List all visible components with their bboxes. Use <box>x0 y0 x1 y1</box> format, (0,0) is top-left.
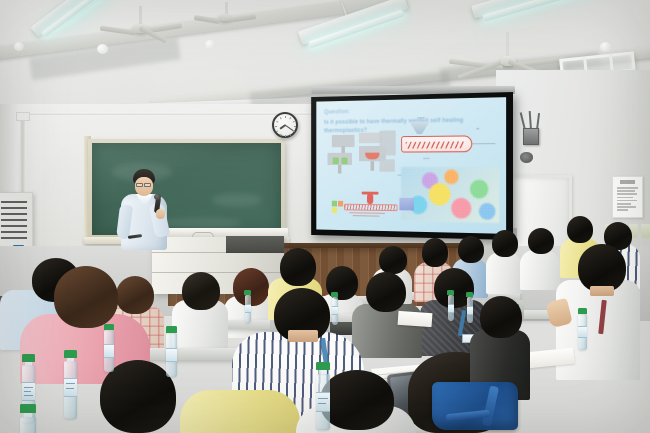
presenter <box>112 169 174 269</box>
wall-clock <box>272 112 298 138</box>
attendee-head <box>280 248 316 286</box>
ac-pipe-bracket <box>16 112 30 121</box>
attendee-head <box>182 272 220 310</box>
welding-schematic <box>316 97 506 101</box>
wall-notice <box>612 176 643 218</box>
slide-heading: Question: <box>324 106 469 117</box>
attendee-head <box>528 228 554 254</box>
ac-pipe <box>20 118 25 194</box>
attendee-head <box>567 216 593 243</box>
projection-screen: Question: Is it possible to have thermal… <box>311 92 513 240</box>
attendee-head <box>578 244 626 292</box>
polymer-micrograph <box>401 167 499 223</box>
extruder-schematic: hopper die screw <box>316 97 506 101</box>
handout-paper <box>398 311 433 327</box>
slide-content: Question: Is it possible to have thermal… <box>316 97 506 234</box>
glasses-icon <box>136 183 143 187</box>
attendee-head <box>458 236 484 263</box>
attendee-head <box>116 276 154 314</box>
ceiling-light-bulb <box>97 44 108 54</box>
attendee-head <box>422 238 448 267</box>
attendee-head <box>320 370 394 430</box>
attendee-head <box>480 296 522 338</box>
attendee-head <box>379 246 407 274</box>
backpack <box>432 382 518 430</box>
wall-speaker-amplifier <box>523 128 539 145</box>
attendee-head <box>366 272 406 312</box>
slide-body: Is it possible to have thermally welded … <box>324 117 481 136</box>
attendee-head <box>233 268 269 306</box>
lectern-handle[interactable] <box>192 232 214 237</box>
slide-heading-text: Question: <box>324 108 350 115</box>
attendee-head <box>54 266 118 328</box>
clock-minute-hand <box>285 125 293 131</box>
lecture-hall-photo: Question: Is it possible to have thermal… <box>0 0 650 433</box>
ceiling-light-bulb <box>14 42 24 51</box>
reaction-scheme <box>332 191 414 219</box>
attendee-head <box>492 230 518 257</box>
wall-speaker-cone <box>520 152 533 163</box>
ceiling-light-bulb <box>205 40 215 49</box>
ceiling-light-bulb <box>600 42 611 52</box>
